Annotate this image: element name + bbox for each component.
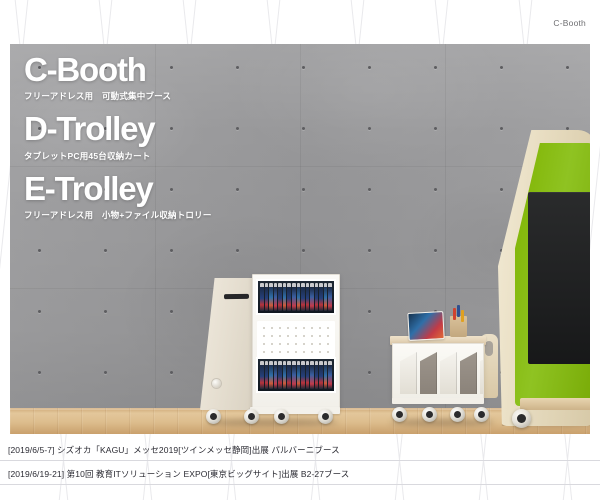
file-divider [440, 352, 457, 394]
stored-tablet [269, 283, 273, 311]
stored-tablet [274, 361, 278, 389]
product-title-list: C-Booth フリーアドレス用 可動式集中ブース D-Trolley タブレッ… [24, 54, 212, 232]
stored-tablet [265, 361, 269, 389]
stored-tablet [297, 283, 301, 311]
wall-tie-hole [434, 66, 437, 69]
pen-red [453, 308, 456, 320]
product-name-c-booth: C-Booth [24, 54, 212, 86]
e-trolley-file-dividers [400, 352, 484, 394]
caster-wheel [392, 407, 407, 422]
stored-tablet [328, 283, 332, 311]
d-trolley-side-panel [200, 278, 256, 410]
d-trolley-lock-knob [212, 379, 221, 388]
wall-tie-hole [236, 249, 239, 252]
d-trolley-body [252, 274, 340, 410]
stored-tablet [292, 283, 296, 311]
stored-tablet [310, 361, 314, 389]
stored-tablet [315, 361, 319, 389]
top-right-label: C-Booth [553, 18, 586, 28]
pen-yellow [461, 310, 464, 322]
wall-tie-hole [302, 66, 305, 69]
furniture-d-trolley [200, 274, 340, 424]
wall-tie-hole [368, 310, 371, 313]
stored-tablet [287, 361, 291, 389]
e-trolley-base [392, 398, 484, 404]
wall-tie-hole [104, 371, 107, 374]
furniture-e-trolley [388, 310, 496, 422]
wall-tie-hole [236, 188, 239, 191]
wall-tie-hole [170, 371, 173, 374]
caster-wheel [206, 409, 221, 424]
d-trolley-tablet-shelf-bottom [256, 357, 336, 393]
page-root: C-Booth C-Booth フリーアドレス用 可動式集中ブース D-Trol… [0, 0, 600, 500]
tablet-row [260, 361, 332, 389]
e-trolley-tablet [407, 311, 444, 341]
stored-tablet [278, 361, 282, 389]
stored-tablet [283, 361, 287, 389]
furniture-c-booth [498, 130, 590, 426]
d-trolley-tablet-shelf-top [256, 279, 336, 315]
stored-tablet [315, 283, 319, 311]
product-tagline-d-trolley: タブレットPC用45台収納カート [24, 150, 212, 162]
product-entry-e-trolley: E-Trolley フリーアドレス用 小物+ファイル収納トロリー [24, 173, 212, 221]
wall-tie-hole [368, 127, 371, 130]
caster-wheel [244, 409, 259, 424]
stored-tablet [306, 283, 310, 311]
product-tagline-c-booth: フリーアドレス用 可動式集中ブース [24, 90, 212, 102]
wall-tie-hole [170, 249, 173, 252]
caster-wheel [422, 407, 437, 422]
wall-tie-hole [104, 310, 107, 313]
stored-tablet [260, 361, 264, 389]
stored-tablet [301, 361, 305, 389]
stored-tablet [328, 361, 332, 389]
c-booth-black-panel [528, 192, 590, 364]
caster-wheel [512, 409, 531, 428]
stored-tablet [265, 283, 269, 311]
stored-tablet [306, 361, 310, 389]
caster-wheel [474, 407, 489, 422]
stored-tablet [269, 361, 273, 389]
stored-tablet [287, 283, 291, 311]
wall-tie-hole [500, 66, 503, 69]
stored-tablet [278, 283, 282, 311]
wall-tie-hole [434, 249, 437, 252]
wall-tie-hole [104, 249, 107, 252]
file-divider [420, 352, 437, 394]
product-name-e-trolley: E-Trolley [24, 173, 212, 205]
wall-tie-hole [236, 66, 239, 69]
product-tagline-e-trolley: フリーアドレス用 小物+ファイル収納トロリー [24, 209, 212, 221]
wall-tie-hole [170, 310, 173, 313]
e-trolley-pen-cup [450, 316, 467, 337]
file-divider [460, 352, 477, 394]
caster-wheel [318, 409, 333, 424]
wall-tie-hole [38, 310, 41, 313]
news-item-link[interactable]: [2019/6/19-21] 第10回 教育ITソリューション EXPO[東京ビ… [0, 468, 600, 485]
wall-tie-hole [368, 249, 371, 252]
news-item-link[interactable]: [2019/6/5-7] シズオカ「KAGU」メッセ2019[ツインメッセ静岡]… [0, 444, 600, 461]
stored-tablet [324, 283, 328, 311]
stored-tablet [274, 283, 278, 311]
wall-tie-hole [368, 188, 371, 191]
wall-tie-hole [434, 127, 437, 130]
c-booth-desk-top [520, 398, 590, 410]
product-entry-d-trolley: D-Trolley タブレットPC用45台収納カート [24, 113, 212, 161]
stored-tablet [301, 283, 305, 311]
stored-tablet [324, 361, 328, 389]
wall-tie-hole [368, 371, 371, 374]
d-trolley-handle [224, 294, 249, 299]
wall-tie-hole [302, 188, 305, 191]
product-hero-photo: C-Booth フリーアドレス用 可動式集中ブース D-Trolley タブレッ… [10, 44, 590, 434]
stored-tablet [310, 283, 314, 311]
stored-tablet [260, 283, 264, 311]
caster-wheel [450, 407, 465, 422]
news-list: [2019/6/5-7] シズオカ「KAGU」メッセ2019[ツインメッセ静岡]… [0, 444, 600, 492]
product-name-d-trolley: D-Trolley [24, 113, 212, 145]
wall-tie-hole [38, 371, 41, 374]
wall-tie-hole [434, 188, 437, 191]
wall-tie-hole [566, 66, 569, 69]
file-divider [400, 352, 417, 394]
pen-blue [457, 305, 460, 317]
wall-tie-hole [236, 127, 239, 130]
tablet-row [260, 283, 332, 311]
stored-tablet [319, 283, 323, 311]
stored-tablet [297, 361, 301, 389]
stored-tablet [319, 361, 323, 389]
file-divider [480, 352, 484, 394]
stored-tablet [283, 283, 287, 311]
product-entry-c-booth: C-Booth フリーアドレス用 可動式集中ブース [24, 54, 212, 102]
e-trolley-body [392, 343, 484, 401]
wall-tie-hole [368, 66, 371, 69]
wall-tie-hole [302, 249, 305, 252]
wall-tie-hole [302, 127, 305, 130]
wall-tie-hole [38, 249, 41, 252]
stored-tablet [292, 361, 296, 389]
caster-wheel [274, 409, 289, 424]
